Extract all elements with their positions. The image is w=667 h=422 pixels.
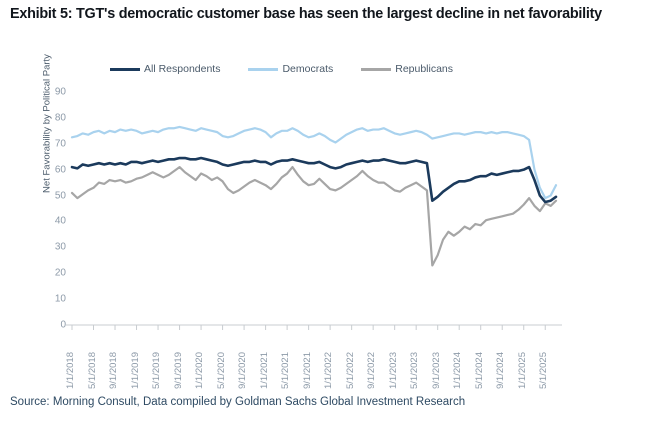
chart-canvas: [0, 0, 667, 422]
series-line-all-respondents: [72, 158, 556, 202]
series-line-republicans: [72, 167, 556, 265]
plot-area: Net Favorability by Political Party 0102…: [0, 0, 667, 422]
chart-page: Exhibit 5: TGT's democratic customer bas…: [0, 0, 667, 422]
source-note: Source: Morning Consult, Data compiled b…: [10, 396, 465, 408]
